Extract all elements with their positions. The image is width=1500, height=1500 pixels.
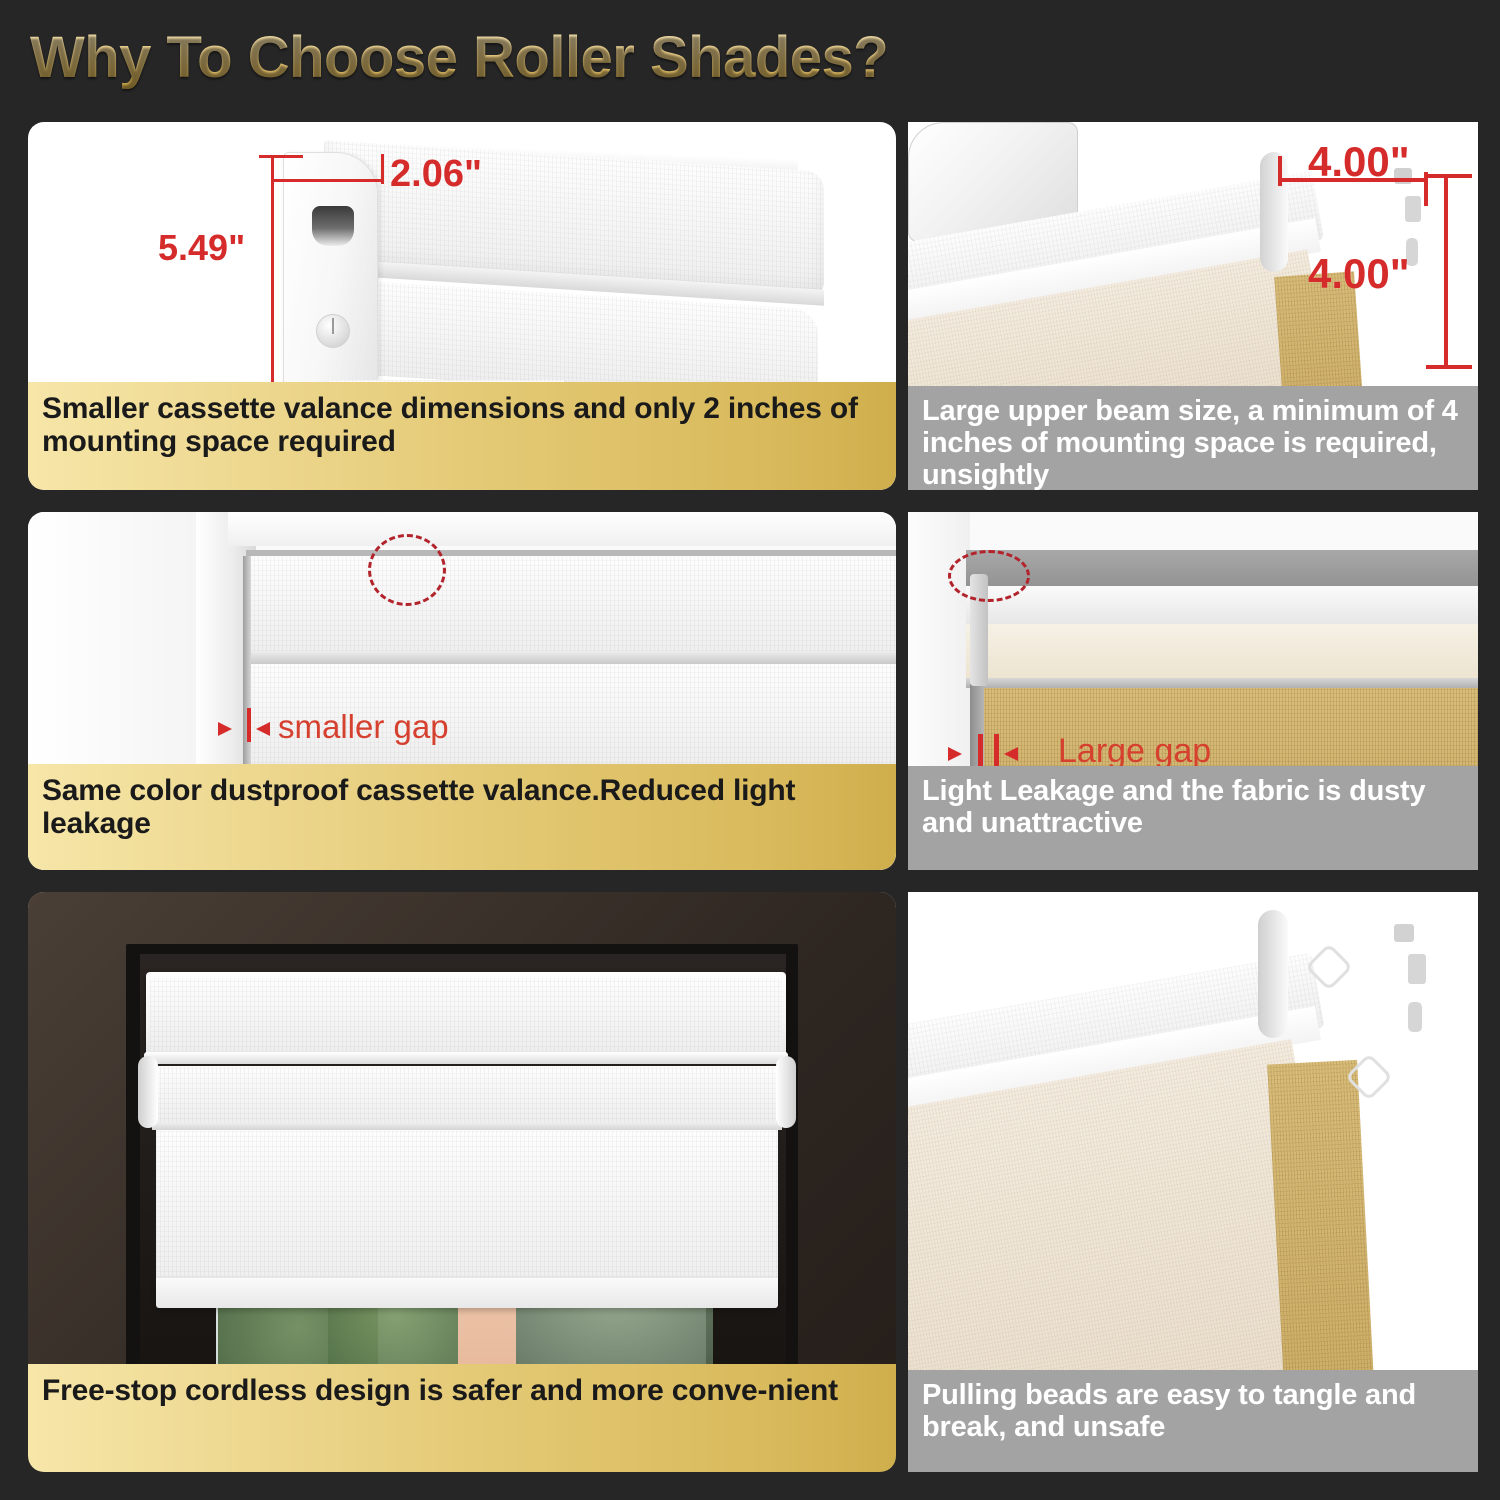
gap-marker-line-b	[994, 734, 999, 766]
panel-middle-right: Large gap Light Leakage and the fabric i…	[908, 512, 1478, 870]
width-dimension-line	[274, 179, 384, 182]
gap-arrow-left	[948, 747, 962, 761]
caption-bottom-left: Free-stop cordless design is safer and m…	[28, 1364, 896, 1472]
panel-top-left: 2.06" 5.49" Smaller cassette valance dim…	[28, 122, 896, 490]
detail-highlight-circle	[948, 550, 1030, 602]
caption-top-left: Smaller cassette valance dimensions and …	[28, 382, 896, 490]
width-dimension-label: 2.06"	[390, 153, 482, 196]
detail-highlight-circle	[368, 534, 446, 606]
gap-label-smaller: smaller gap	[278, 708, 449, 746]
panel-bottom-left: Free-stop cordless design is safer and m…	[28, 892, 896, 1472]
beam-width-tick-left	[1278, 156, 1282, 186]
panel-middle-left: smaller gap Same color dustproof cassett…	[28, 512, 896, 870]
caption-middle-right: Light Leakage and the fabric is dusty an…	[908, 766, 1478, 870]
beam-height-tick-bottom	[1426, 365, 1472, 369]
gap-arrow-right	[1004, 747, 1018, 761]
height-dimension-tick-top	[259, 155, 303, 158]
height-dimension-line	[271, 155, 274, 392]
beam-height-tick-top	[1426, 174, 1472, 178]
height-dimension-label: 5.49"	[158, 227, 245, 269]
panel-bottom-right: Pulling beads are easy to tangle and bre…	[908, 892, 1478, 1472]
gap-arrow-left	[218, 722, 232, 736]
width-dimension-tick-right	[381, 154, 384, 184]
caption-top-right: Large upper beam size, a minimum of 4 in…	[908, 386, 1478, 490]
beam-width-label: 4.00"	[1308, 138, 1410, 186]
gap-marker-line	[247, 708, 251, 742]
beam-height-label: 4.00"	[1308, 250, 1410, 298]
caption-middle-left: Same color dustproof cassette valance.Re…	[28, 764, 896, 870]
gap-arrow-right	[256, 722, 270, 736]
page-title: Why To Choose Roller Shades?	[30, 24, 888, 91]
infographic-root: Why To Choose Roller Shades? 2.06" 5.49"…	[0, 0, 1500, 1500]
panel-top-right: 4.00" 4.00" Large upper beam size, a min…	[908, 122, 1478, 490]
gap-marker-line-a	[978, 734, 983, 766]
beam-height-dimension-line	[1444, 174, 1448, 368]
caption-bottom-right: Pulling beads are easy to tangle and bre…	[908, 1370, 1478, 1472]
